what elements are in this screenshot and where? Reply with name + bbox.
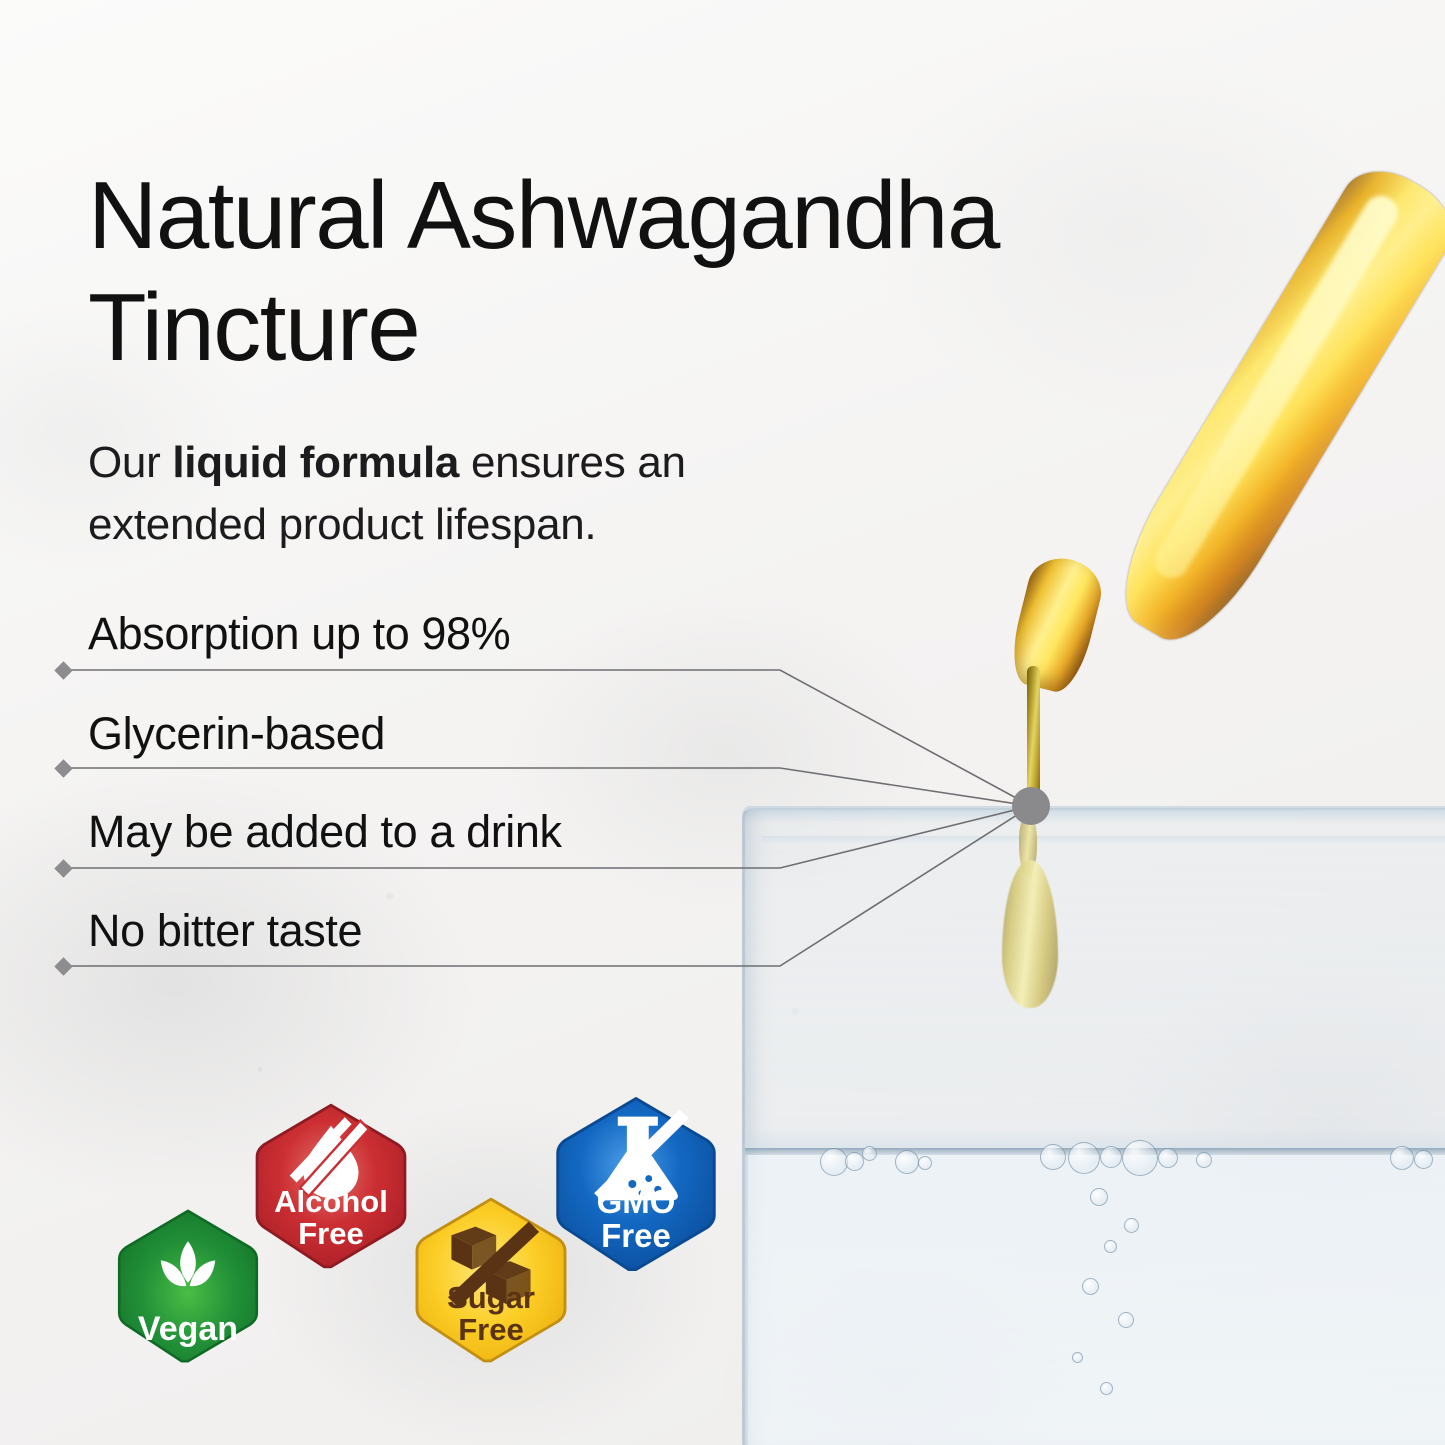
badge-alcohol-free: Alcohol Free	[245, 1100, 417, 1272]
product-infographic: Natural Ashwagandha Tincture Our liquid …	[0, 0, 1445, 1445]
certification-badges: Vegan	[0, 0, 1445, 1445]
hexagon-shape	[119, 1211, 257, 1361]
badge-vegan: Vegan	[108, 1206, 268, 1366]
badge-gmo-free: GMO Free	[545, 1093, 727, 1275]
